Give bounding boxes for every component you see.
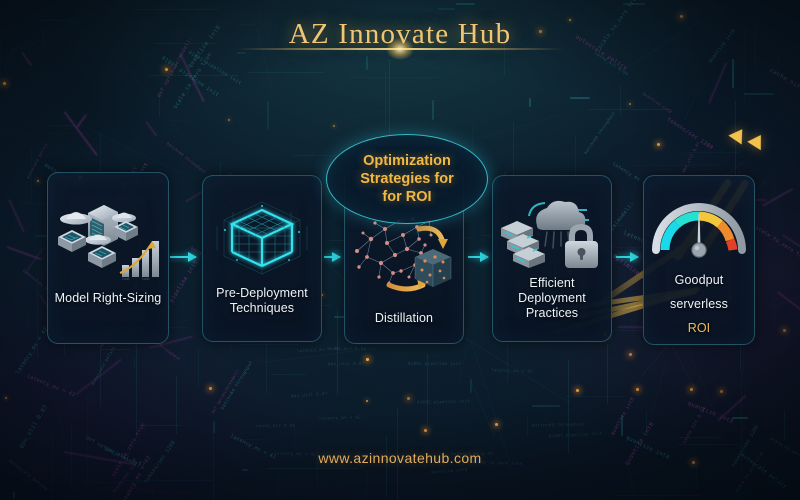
card-label-goodput: Goodput serverless ROI xyxy=(648,268,750,340)
connector-arrow-3 xyxy=(468,256,488,258)
card-label-line: serverless xyxy=(648,292,750,316)
card-label-line: Pre-Deployment xyxy=(207,286,317,301)
card-label-line: Goodput xyxy=(648,268,750,292)
card-goodput-serverless-roi[interactable]: Goodput serverless ROI xyxy=(643,175,755,345)
card-label-line: Efficient xyxy=(497,276,607,291)
connector-arrow-1 xyxy=(170,256,196,258)
card-label-line: Model Right-Sizing xyxy=(52,291,164,306)
isometric-servers-and-bar-chart-icon: CostCost xyxy=(48,191,168,281)
title-glow-flare xyxy=(386,38,414,60)
gauge-speedometer-icon xyxy=(644,192,754,266)
card-label-roi: ROI xyxy=(648,316,750,340)
card-label-line: Practices xyxy=(497,306,607,321)
center-callout-line-3: for ROI xyxy=(360,188,453,206)
wireframe-cube-icon xyxy=(203,190,321,282)
center-callout-ellipse[interactable]: Optimization Strategies for for ROI xyxy=(326,134,488,224)
svg-text:Cost: Cost xyxy=(142,277,150,281)
cloud-server-lock-icon xyxy=(493,188,611,274)
center-callout-line-1: Optimization xyxy=(360,152,453,170)
infographic-canvas: autoscale policyquantize int8gpu_util 0.… xyxy=(0,0,800,500)
connector-arrow-4 xyxy=(616,256,638,258)
center-callout-line-2: Strategies for xyxy=(360,170,453,188)
card-efficient-deployment-practices[interactable]: Efficient Deployment Practices xyxy=(492,175,612,342)
card-model-right-sizing[interactable]: CostCost Model Right-Sizing xyxy=(47,172,169,344)
svg-text:Cost: Cost xyxy=(122,277,130,281)
card-label-pre-deployment: Pre-Deployment Techniques xyxy=(207,286,317,316)
card-label-distillation: Distillation xyxy=(349,311,459,326)
card-label-line: Techniques xyxy=(207,301,317,316)
center-callout-text: Optimization Strategies for for ROI xyxy=(360,152,453,206)
card-pre-deployment-techniques[interactable]: Pre-Deployment Techniques xyxy=(202,175,322,342)
card-label-line: Distillation xyxy=(349,311,459,326)
connector-arrow-2 xyxy=(324,256,340,258)
footer-url[interactable]: www.azinnovatehub.com xyxy=(0,450,800,466)
card-label-line: Deployment xyxy=(497,291,607,306)
card-label-model-right-sizing: Model Right-Sizing xyxy=(52,291,164,306)
card-label-efficient-deployment: Efficient Deployment Practices xyxy=(497,276,607,321)
